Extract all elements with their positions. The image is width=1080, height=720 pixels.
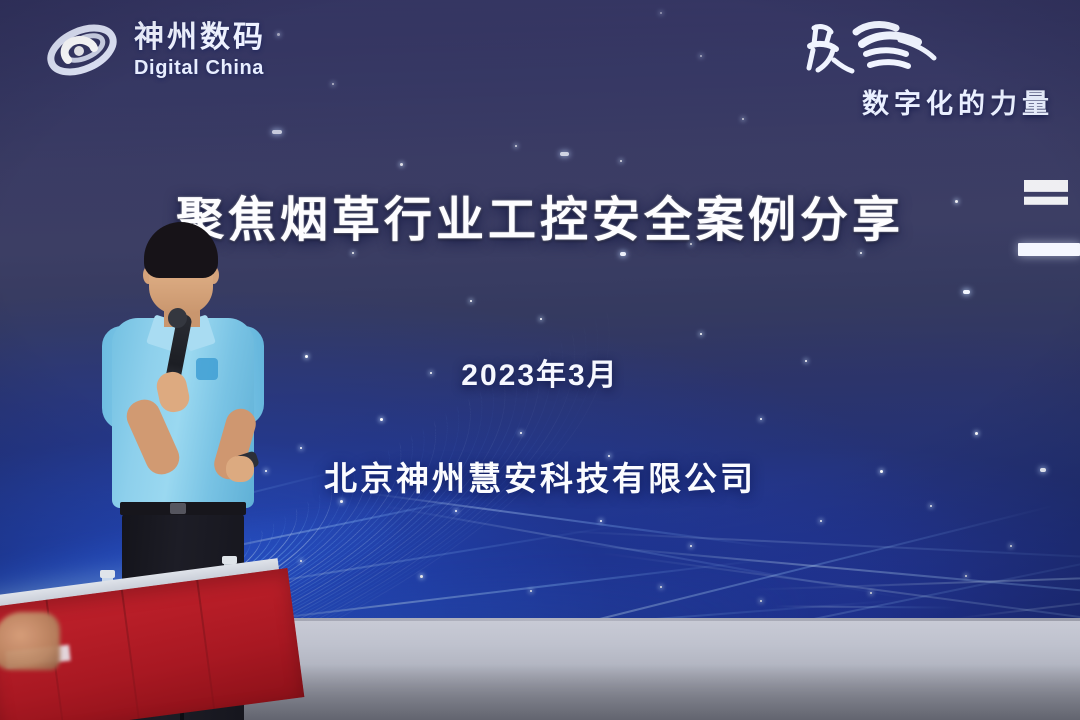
particle-dot bbox=[1010, 545, 1012, 547]
particle-dash bbox=[963, 290, 970, 294]
particle-dot bbox=[700, 333, 702, 335]
particle-dot bbox=[352, 252, 354, 254]
particle-dot bbox=[420, 575, 423, 578]
particle-dot bbox=[660, 586, 662, 588]
brand-logo: 神州数码 Digital China bbox=[42, 14, 266, 86]
particle-dot bbox=[975, 432, 978, 435]
particle-dot bbox=[332, 83, 334, 85]
particle-dot bbox=[277, 33, 280, 36]
particle-dot bbox=[515, 145, 517, 147]
particle-dot bbox=[520, 432, 522, 434]
particle-dot bbox=[380, 418, 383, 421]
foreground-attendee bbox=[0, 612, 60, 670]
particle-dot bbox=[300, 447, 302, 449]
particle-dot bbox=[760, 600, 762, 602]
speaker-hand-right bbox=[226, 456, 254, 482]
speaker-hair bbox=[144, 222, 218, 278]
particle-dot bbox=[690, 545, 692, 547]
event-tagline: 数字化的力量 bbox=[862, 82, 1054, 121]
particle-dash bbox=[560, 152, 569, 156]
particle-dot bbox=[455, 510, 457, 512]
speaker-shirt-logo bbox=[196, 358, 218, 380]
event-mark: 数字化的力量 bbox=[798, 18, 1058, 114]
particle-dot bbox=[860, 252, 862, 254]
particle-dot bbox=[870, 592, 872, 594]
particle-dot bbox=[820, 520, 822, 522]
particle-dot bbox=[700, 55, 702, 57]
particle-dot bbox=[470, 300, 472, 302]
particle-dot bbox=[620, 160, 622, 162]
particle-dot bbox=[930, 505, 932, 507]
speaker-belt-buckle bbox=[170, 503, 186, 514]
particle-dot bbox=[965, 575, 967, 577]
particle-dot bbox=[600, 520, 602, 522]
particle-dot bbox=[400, 163, 403, 166]
digital-china-spiral-logo bbox=[42, 14, 122, 86]
particle-dot bbox=[530, 590, 532, 592]
particle-dash bbox=[272, 130, 282, 134]
particle-dot bbox=[760, 418, 762, 420]
particle-dot bbox=[300, 560, 302, 562]
particle-dot bbox=[742, 118, 744, 120]
particle-dot bbox=[660, 12, 662, 14]
particle-dash bbox=[620, 252, 626, 256]
calligraphy-juhe-icon bbox=[800, 18, 940, 80]
particle-dot bbox=[340, 500, 343, 503]
conference-stage-photo: 神州数码 Digital China bbox=[0, 0, 1080, 720]
bottle-cap bbox=[100, 570, 115, 578]
brand-name-cn: 神州数码 bbox=[134, 23, 266, 53]
particle-dot bbox=[540, 318, 542, 320]
brand-name-en: Digital China bbox=[134, 58, 266, 78]
